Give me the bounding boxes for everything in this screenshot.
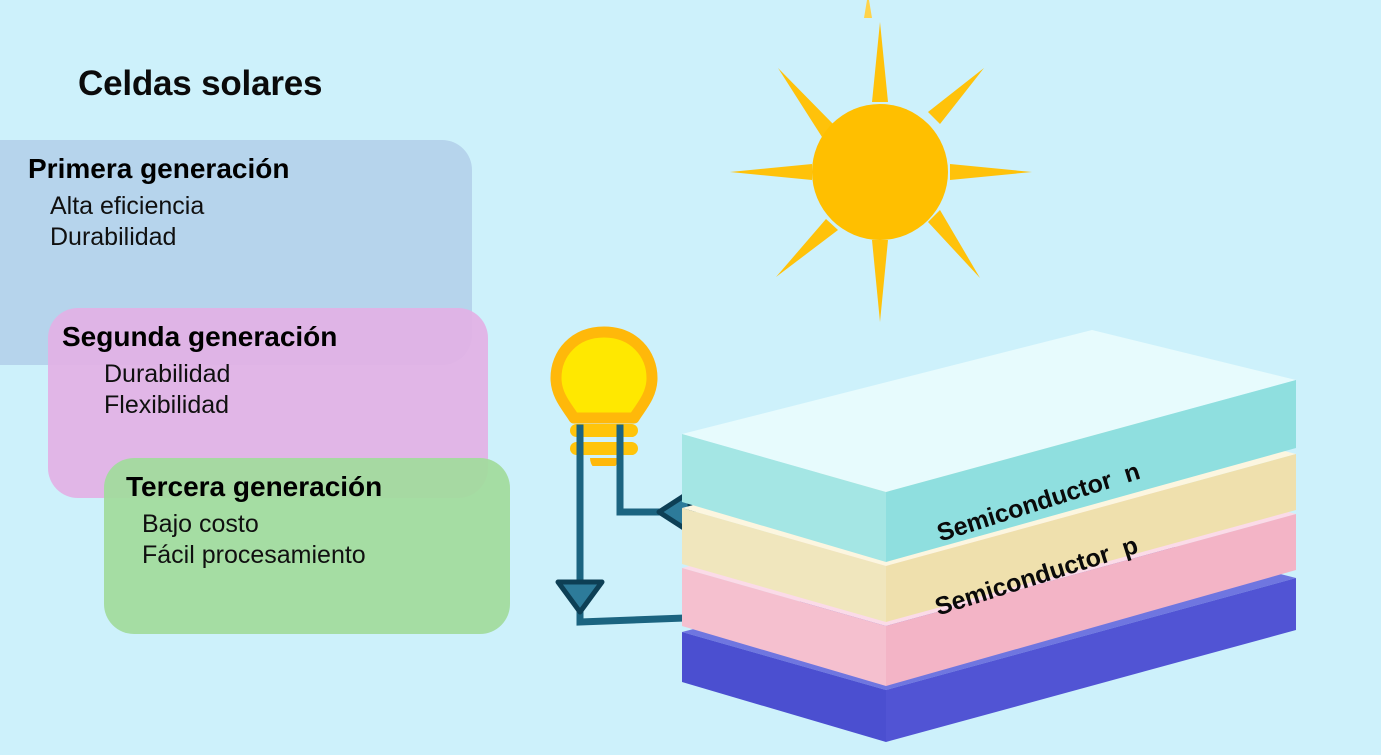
- generation-feature-list: Bajo costo Fácil procesamiento: [126, 509, 510, 570]
- sun-icon: [700, 0, 1060, 342]
- generation-card-title: Primera generación: [28, 154, 472, 183]
- generation-feature-item: Bajo costo: [142, 509, 510, 540]
- generation-feature-item: Flexibilidad: [104, 390, 488, 421]
- sun-ray-fragment-icon: [858, 0, 878, 20]
- generation-feature-list: Durabilidad Flexibilidad: [62, 359, 488, 420]
- sun-disc: [812, 104, 948, 240]
- arrow-down-icon: [558, 582, 602, 612]
- generation-feature-item: Alta eficiencia: [50, 191, 472, 222]
- solar-cell-block: [676, 330, 1296, 750]
- solar-cells-infographic: Celdas solares Primera generación Alta e…: [0, 0, 1381, 755]
- generation-card-title: Tercera generación: [126, 472, 510, 501]
- page-title: Celdas solares: [78, 64, 322, 104]
- generation-feature-list: Alta eficiencia Durabilidad: [28, 191, 472, 252]
- generation-card-tercera[interactable]: Tercera generación Bajo costo Fácil proc…: [104, 458, 510, 634]
- generation-feature-item: Durabilidad: [50, 222, 472, 253]
- generation-feature-item: Durabilidad: [104, 359, 488, 390]
- generation-feature-item: Fácil procesamiento: [142, 540, 510, 571]
- generation-card-title: Segunda generación: [62, 322, 488, 351]
